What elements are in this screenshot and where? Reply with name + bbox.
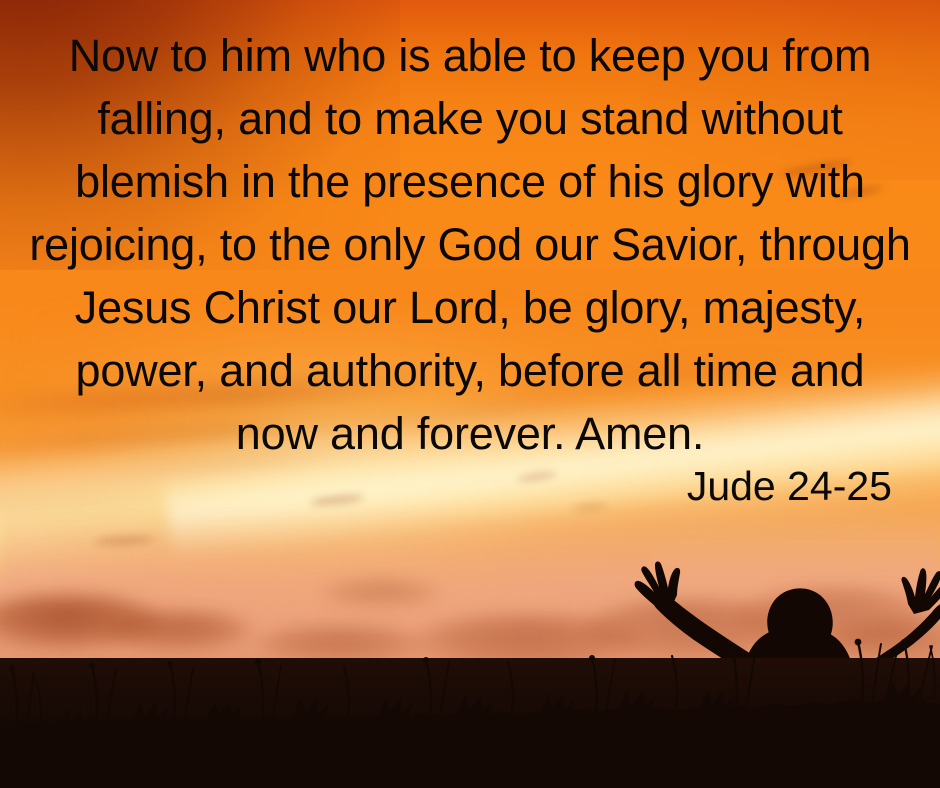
verse-line: rejoicing, to the only God our Savior, t…: [0, 213, 940, 276]
field-vegetation-silhouette: [0, 608, 940, 788]
verse-line: Jesus Christ our Lord, be glory, majesty…: [0, 276, 940, 339]
scripture-image-canvas: Now to him who is able to keep you from …: [0, 0, 940, 788]
verse-text: Now to him who is able to keep you from …: [0, 24, 940, 465]
verse-line: blemish in the presence of his glory wit…: [0, 150, 940, 213]
verse-line: falling, and to make you stand without: [0, 87, 940, 150]
verse-line: Now to him who is able to keep you from: [0, 24, 940, 87]
verse-line: power, and authority, before all time an…: [0, 339, 940, 402]
verse-line: now and forever. Amen.: [0, 402, 940, 465]
scripture-citation: Jude 24-25: [687, 462, 892, 510]
